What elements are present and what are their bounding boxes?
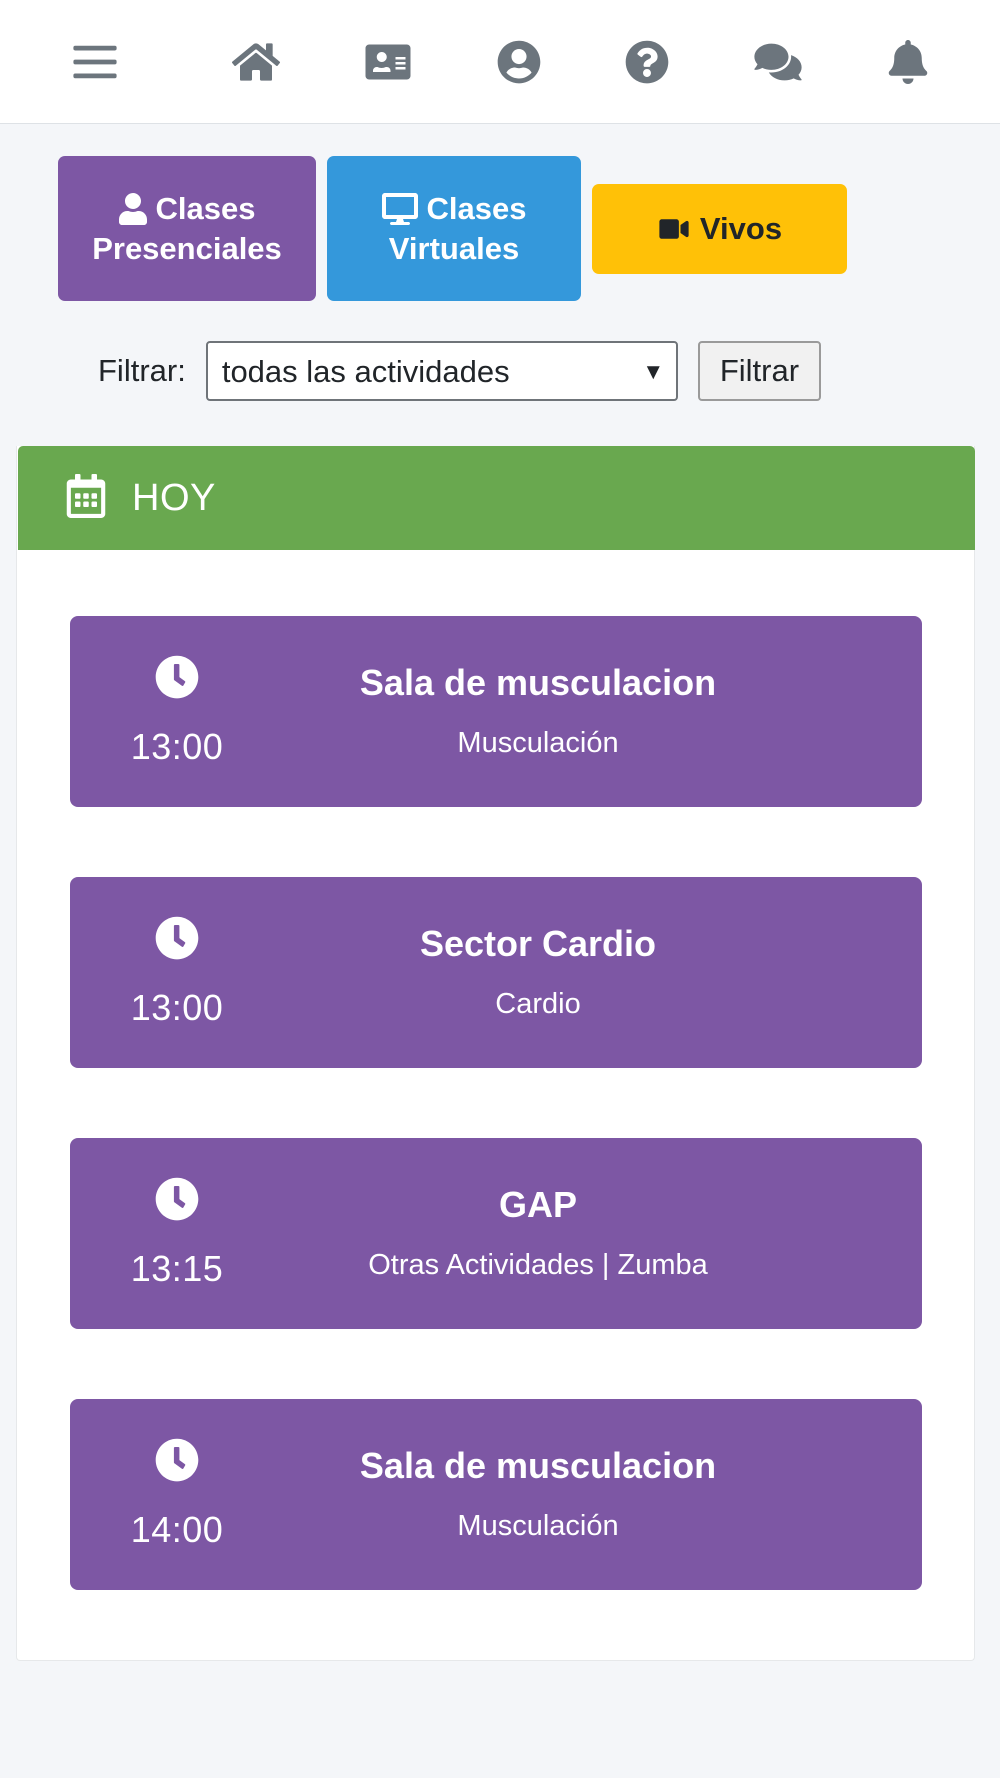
tab-presenciales-line1: Clases xyxy=(119,189,256,229)
tab-presenciales-label2: Presenciales xyxy=(92,229,282,269)
desktop-icon xyxy=(382,193,418,225)
user-circle-icon[interactable] xyxy=(497,40,541,84)
tab-vivos[interactable]: Vivos xyxy=(592,184,847,274)
class-subtitle: Musculación xyxy=(457,1511,618,1543)
navbar-left-group xyxy=(0,44,190,80)
today-schedule-panel: HOY 13:00 Sala de musculacion Musculació… xyxy=(16,446,975,1661)
class-card[interactable]: 13:00 Sector Cardio Cardio xyxy=(70,877,922,1068)
class-title: Sala de musculacion xyxy=(360,663,716,703)
class-card[interactable]: 13:15 GAP Otras Actividades | Zumba xyxy=(70,1138,922,1329)
navbar-right-group xyxy=(190,40,1000,84)
class-info-block: GAP Otras Actividades | Zumba xyxy=(285,1162,922,1305)
class-time: 13:15 xyxy=(131,1248,224,1290)
tab-clases-presenciales[interactable]: Clases Presenciales xyxy=(58,156,316,301)
class-time-block: 14:00 xyxy=(70,1423,285,1566)
panel-header-title: HOY xyxy=(132,477,216,520)
clock-icon xyxy=(155,1438,199,1487)
class-time: 13:00 xyxy=(131,987,224,1029)
class-time-block: 13:15 xyxy=(70,1162,285,1305)
tab-clases-virtuales[interactable]: Clases Virtuales xyxy=(327,156,581,301)
class-subtitle: Cardio xyxy=(495,989,580,1021)
clock-icon xyxy=(155,655,199,704)
tab-virtuales-line1: Clases xyxy=(382,189,527,229)
class-subtitle: Musculación xyxy=(457,728,618,760)
tab-virtuales-label2: Virtuales xyxy=(389,229,519,269)
class-time-block: 13:00 xyxy=(70,640,285,783)
panel-header-hoy: HOY xyxy=(18,446,975,550)
tab-virtuales-label1: Clases xyxy=(427,189,527,229)
class-type-button-row: Clases Presenciales Clases Virtuales Viv… xyxy=(0,124,1000,301)
calendar-icon xyxy=(66,474,106,523)
class-time-block: 13:00 xyxy=(70,901,285,1044)
tab-vivos-label: Vivos xyxy=(700,209,782,249)
clock-icon xyxy=(155,916,199,965)
activity-filter-wrap: todas las actividades ▾ xyxy=(206,341,678,401)
filtrar-button[interactable]: Filtrar xyxy=(698,341,821,401)
top-navbar xyxy=(0,0,1000,124)
id-card-icon[interactable] xyxy=(364,42,412,82)
class-title: GAP xyxy=(499,1185,577,1225)
page-content: Clases Presenciales Clases Virtuales Viv… xyxy=(0,124,1000,1661)
activity-filter-select[interactable]: todas las actividades xyxy=(206,341,678,401)
class-info-block: Sala de musculacion Musculación xyxy=(285,1423,922,1566)
class-card[interactable]: 14:00 Sala de musculacion Musculación xyxy=(70,1399,922,1590)
class-card[interactable]: 13:00 Sala de musculacion Musculación xyxy=(70,616,922,807)
class-time: 14:00 xyxy=(131,1509,224,1551)
class-subtitle: Otras Actividades | Zumba xyxy=(368,1250,708,1282)
filter-row: Filtrar: todas las actividades ▾ Filtrar xyxy=(0,301,1000,401)
class-title: Sector Cardio xyxy=(420,924,656,964)
hamburger-menu-icon[interactable] xyxy=(73,44,117,80)
tab-vivos-line1: Vivos xyxy=(657,209,782,249)
clock-icon xyxy=(155,1177,199,1226)
comments-icon[interactable] xyxy=(753,41,803,83)
user-icon xyxy=(119,193,147,225)
filter-label: Filtrar: xyxy=(98,353,186,389)
home-icon[interactable] xyxy=(232,40,280,84)
tab-presenciales-label1: Clases xyxy=(156,189,256,229)
class-title: Sala de musculacion xyxy=(360,1446,716,1486)
question-circle-icon[interactable] xyxy=(625,40,669,84)
bell-icon[interactable] xyxy=(888,40,928,84)
video-camera-icon xyxy=(657,216,691,242)
class-time: 13:00 xyxy=(131,726,224,768)
class-info-block: Sector Cardio Cardio xyxy=(285,901,922,1044)
class-list: 13:00 Sala de musculacion Musculación 13… xyxy=(17,550,974,1590)
class-info-block: Sala de musculacion Musculación xyxy=(285,640,922,783)
